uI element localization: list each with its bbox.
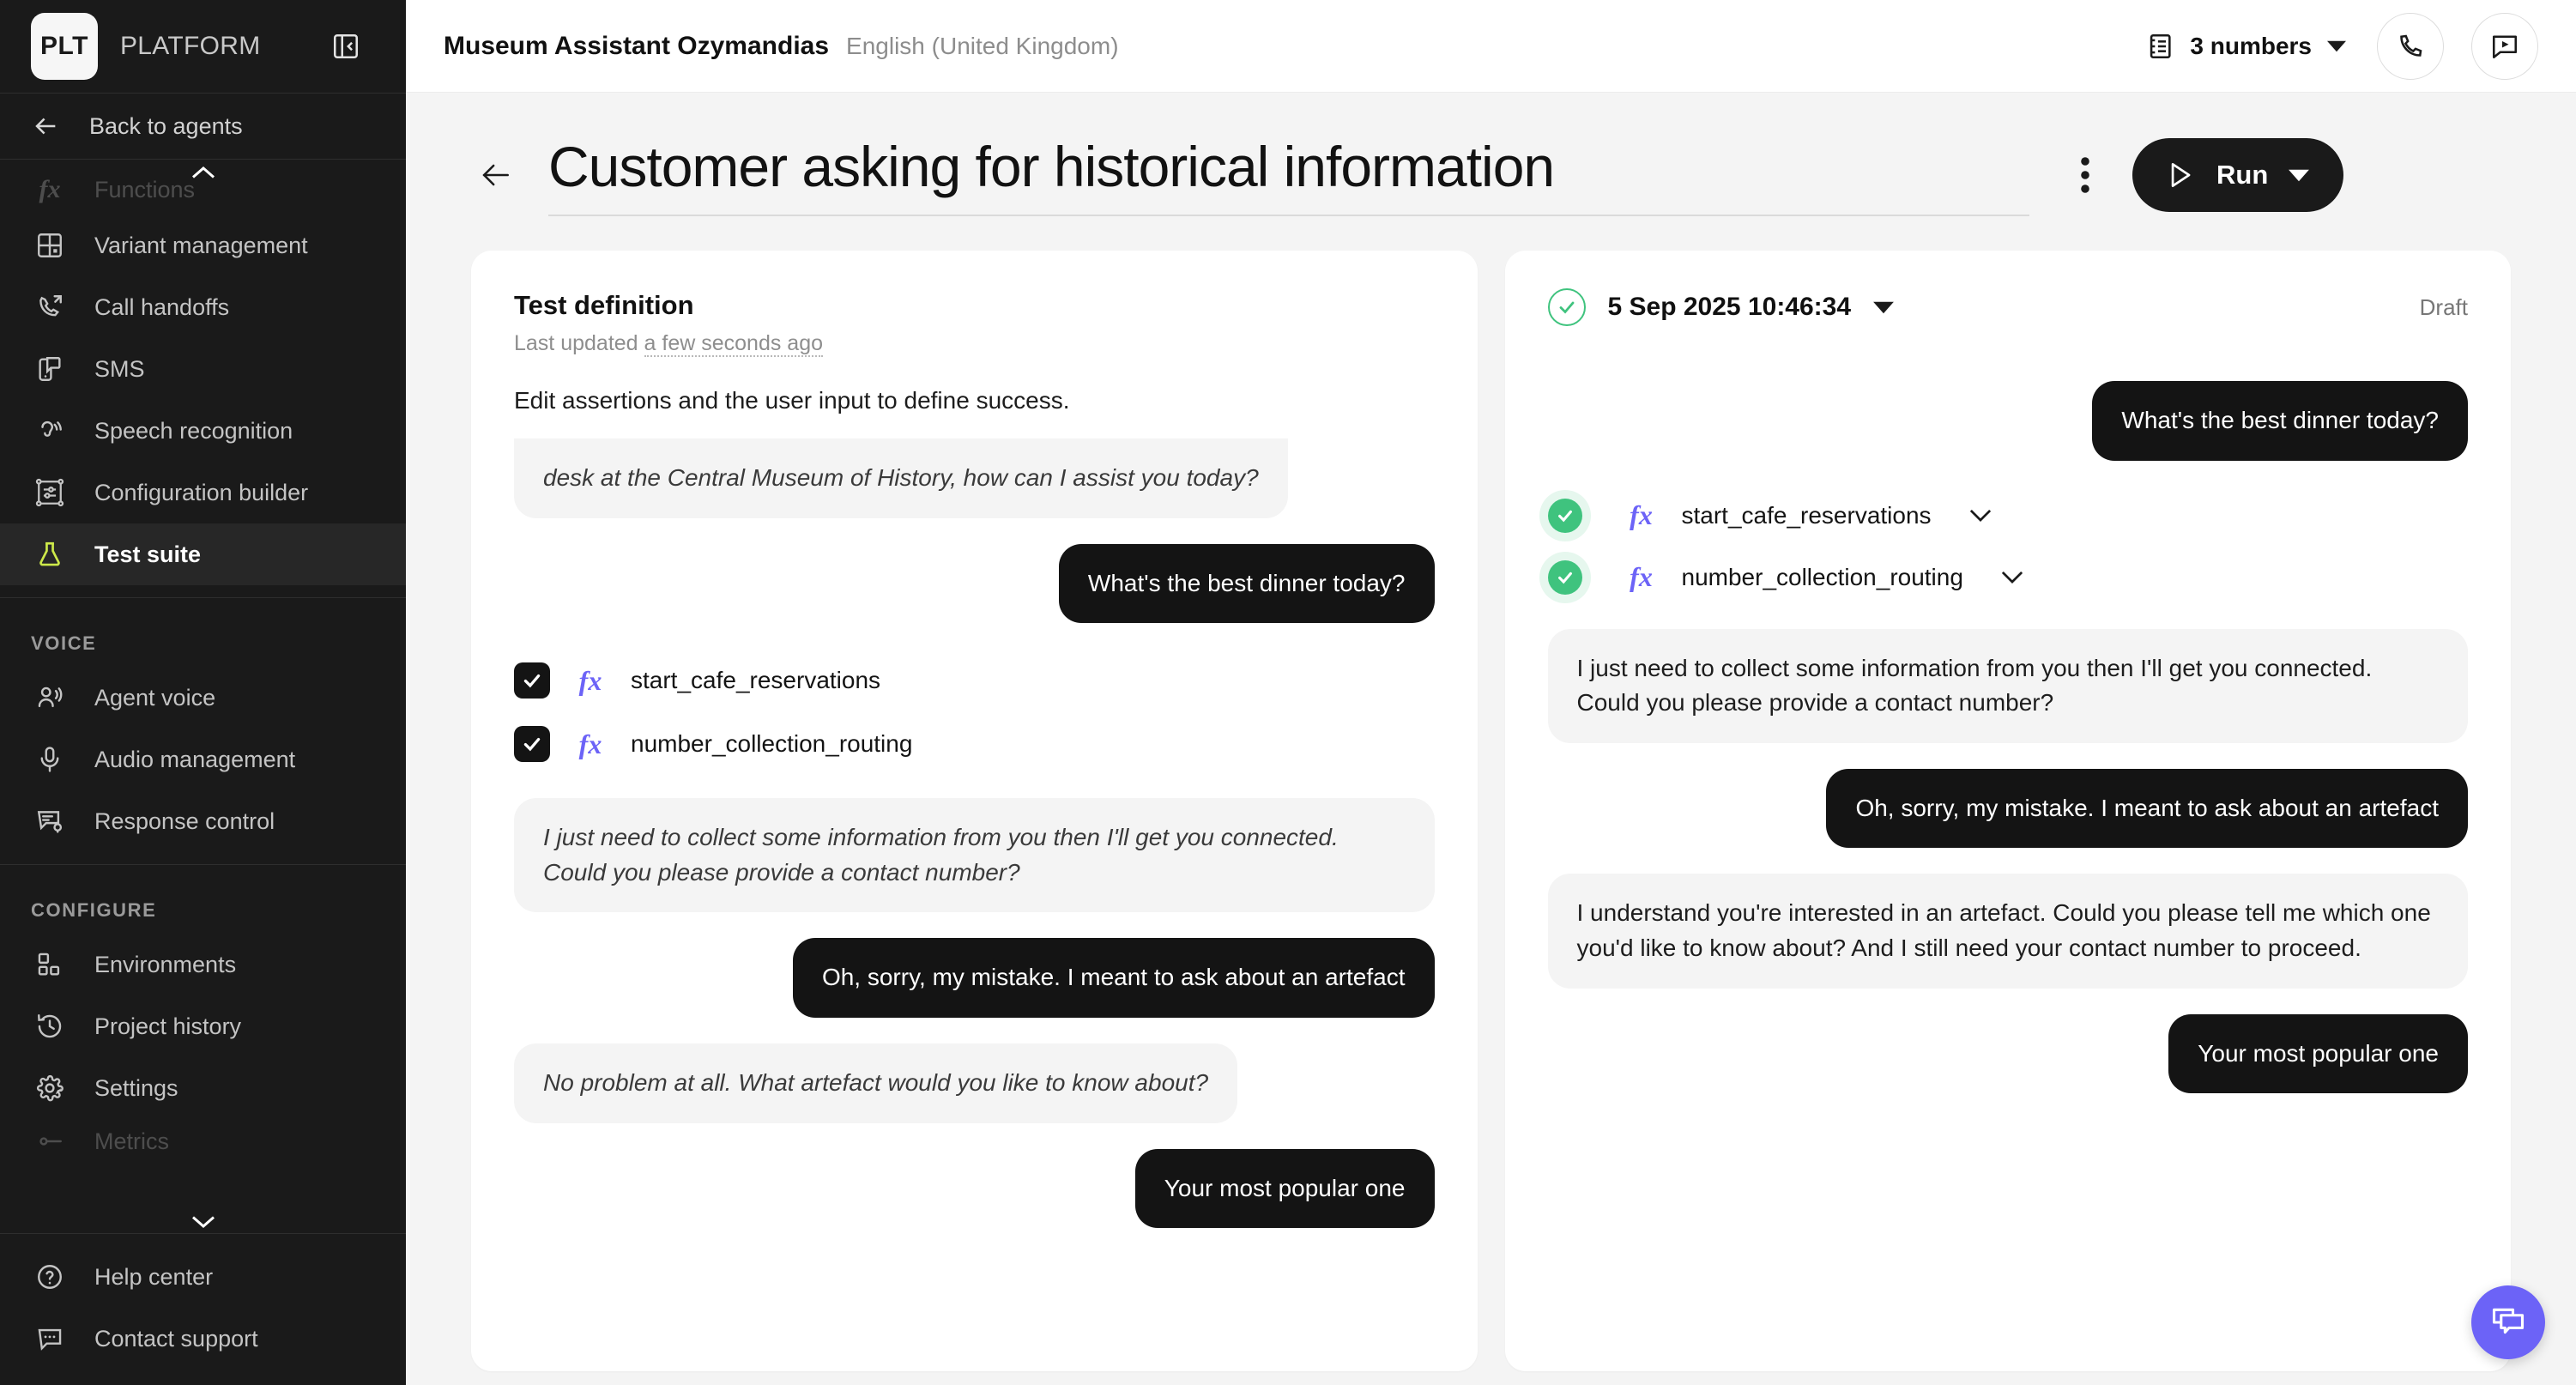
sidebar-footer: Help center Contact support [0, 1233, 406, 1385]
chevron-down-icon [188, 1211, 219, 1231]
run-result-body: What's the best dinner today? f [1505, 342, 2512, 1093]
arrow-left-icon [31, 112, 60, 141]
page-actions: Run [2064, 138, 2343, 212]
phone-icon [2395, 31, 2426, 62]
sidebar-item-sms[interactable]: SMS [0, 338, 406, 400]
panels: Test definition Last updated a few secon… [406, 216, 2576, 1371]
numbers-list-icon [2145, 32, 2174, 61]
sidebar-item-response-control[interactable]: Response control [0, 790, 406, 852]
app-root: PLT PLATFORM Back to agents [0, 0, 2576, 1385]
user-message-bubble[interactable]: What's the best dinner today? [1059, 544, 1435, 624]
clock-history-icon [31, 1012, 69, 1041]
run-button[interactable]: Run [2132, 138, 2343, 212]
content-area: Customer asking for historical informati… [406, 93, 2576, 1385]
chat-dots-icon [31, 1324, 69, 1353]
grid-icon [31, 231, 69, 260]
numbers-label: 3 numbers [2190, 33, 2312, 60]
topbar: Museum Assistant Ozymandias English (Uni… [406, 0, 2576, 93]
sidebar-item-variant-management[interactable]: Variant management [0, 215, 406, 276]
function-name: start_cafe_reservations [1682, 502, 1932, 529]
chevron-down-icon [2327, 39, 2346, 53]
agent-message-bubble[interactable]: I just need to collect some information … [514, 798, 1435, 912]
fx-icon: fx [572, 665, 608, 697]
run-status-check-icon [1548, 288, 1586, 326]
assertion-row[interactable]: fx start_cafe_reservations [514, 656, 1435, 705]
assertion-row[interactable]: fx number_collection_routing [514, 719, 1435, 769]
sidebar-item-configuration-builder[interactable]: Configuration builder [0, 462, 406, 523]
chevron-down-icon [1873, 300, 1894, 315]
test-definition-card: Test definition Last updated a few secon… [471, 251, 1478, 1371]
sidebar-item-label: Speech recognition [94, 418, 293, 445]
sidebar-item-agent-voice[interactable]: Agent voice [0, 667, 406, 729]
chat-row: I understand you're interested in an art… [1548, 874, 2469, 988]
kebab-menu-icon [2080, 156, 2090, 194]
sidebar: PLT PLATFORM Back to agents [0, 0, 406, 1385]
agent-message-bubble: I understand you're interested in an art… [1548, 874, 2469, 988]
back-to-agents-label: Back to agents [89, 113, 243, 140]
brand-name: PLATFORM [120, 32, 261, 61]
sidebar-section-voice: VOICE [0, 598, 406, 667]
sidebar-item-environments[interactable]: Environments [0, 934, 406, 995]
user-message-bubble: Your most popular one [2168, 1014, 2468, 1094]
function-passed-icon [1548, 560, 1582, 595]
sidebar-item-audio-management[interactable]: Audio management [0, 729, 406, 790]
ear-icon [31, 416, 69, 445]
agent-message-bubble[interactable]: desk at the Central Museum of History, h… [514, 438, 1288, 518]
sidebar-item-speech-recognition[interactable]: Speech recognition [0, 400, 406, 462]
numbers-dropdown[interactable]: 3 numbers [2142, 25, 2349, 68]
chevron-down-icon [2289, 168, 2309, 183]
user-message-bubble[interactable]: Your most popular one [1135, 1149, 1435, 1229]
sidebar-item-metrics[interactable]: Metrics [0, 1119, 406, 1164]
main-area: Museum Assistant Ozymandias English (Uni… [406, 0, 2576, 1385]
person-speaking-icon [31, 683, 69, 712]
fx-icon: fx [1624, 561, 1660, 593]
updated-prefix: Last updated [514, 331, 638, 355]
run-status-badge: Draft [2420, 294, 2468, 321]
question-circle-icon [31, 1262, 69, 1291]
chat-row: I just need to collect some information … [1548, 629, 2469, 743]
back-button[interactable] [471, 151, 519, 199]
chat-settings-icon [31, 807, 69, 836]
sidebar-item-label: Agent voice [94, 685, 215, 711]
brand-logo: PLT [31, 13, 98, 80]
sidebar-item-help-center[interactable]: Help center [0, 1246, 406, 1308]
chat-row [1548, 333, 2469, 355]
chevron-down-icon [2001, 570, 2023, 584]
agent-language: English (United Kingdom) [846, 33, 1119, 60]
fx-icon: fx [572, 729, 608, 760]
assertion-checkbox[interactable] [514, 662, 550, 699]
run-result-header: 5 Sep 2025 10:46:34 Draft [1505, 251, 2512, 326]
test-definition-description: Edit assertions and the user input to de… [514, 387, 1435, 414]
chat-row: Your most popular one [1548, 1014, 2469, 1094]
test-definition-body: Test definition Last updated a few secon… [471, 251, 1478, 1371]
expand-function-chevron[interactable] [2001, 570, 2023, 584]
user-message-bubble[interactable]: Oh, sorry, my mistake. I meant to ask ab… [793, 938, 1435, 1018]
sidebar-item-label: Help center [94, 1264, 213, 1291]
sliders-icon [31, 478, 69, 507]
chat-row: What's the best dinner today? [1548, 381, 2469, 461]
sidebar-item-label: Test suite [94, 541, 201, 568]
run-functions-list: fx start_cafe_reservations [1548, 492, 2469, 602]
check-icon [521, 733, 543, 755]
run-label: Run [2216, 160, 2268, 191]
page-title[interactable]: Customer asking for historical informati… [548, 134, 2029, 216]
sidebar-scroll-area[interactable]: fx Functions Variant management [0, 160, 406, 1233]
assertion-name: number_collection_routing [631, 730, 912, 758]
sidebar-item-label: Metrics [94, 1128, 169, 1155]
expand-function-chevron[interactable] [1969, 508, 1992, 523]
scroll-up-chevron[interactable] [0, 163, 406, 184]
more-options-button[interactable] [2064, 151, 2107, 199]
sidebar-item-call-handoffs[interactable]: Call handoffs [0, 276, 406, 338]
play-icon [2163, 159, 2196, 191]
test-chat-button[interactable] [2471, 13, 2538, 80]
chat-row: Your most popular one [514, 1149, 1435, 1229]
chat-row: Oh, sorry, my mistake. I meant to ask ab… [514, 938, 1435, 1018]
run-result-card: 5 Sep 2025 10:46:34 Draft [1505, 251, 2512, 1371]
message-play-icon [2489, 31, 2520, 62]
page-header: Customer asking for historical informati… [406, 93, 2576, 216]
user-message-bubble: What's the best dinner today? [2092, 381, 2468, 461]
phone-forward-icon [31, 293, 69, 322]
updated-value: a few seconds ago [644, 331, 823, 357]
call-agent-button[interactable] [2377, 13, 2444, 80]
brand-header: PLT PLATFORM [0, 0, 406, 93]
chat-row: desk at the Central Museum of History, h… [514, 438, 1435, 518]
sidebar-item-label: Call handoffs [94, 294, 229, 321]
sidebar-item-label: Audio management [94, 747, 295, 773]
function-passed-icon [1548, 499, 1582, 533]
sidebar-item-label: Contact support [94, 1326, 258, 1352]
chevron-up-icon [188, 163, 219, 184]
agent-message-bubble: I just need to collect some information … [1548, 629, 2469, 743]
check-icon [521, 669, 543, 692]
run-result-chat: What's the best dinner today? f [1548, 342, 2469, 1093]
support-chat-widget-button[interactable] [2471, 1285, 2545, 1359]
test-definition-chat: desk at the Central Museum of History, h… [514, 438, 1435, 1228]
chevron-down-icon [1969, 508, 1992, 523]
sidebar-item-project-history[interactable]: Project history [0, 995, 406, 1057]
user-message-bubble: Oh, sorry, my mistake. I meant to ask ab… [1826, 769, 2468, 849]
blocks-icon [31, 950, 69, 979]
topbar-actions: 3 numbers [2142, 13, 2538, 80]
chat-row: What's the best dinner today? [514, 544, 1435, 624]
assertion-checkbox[interactable] [514, 726, 550, 762]
sidebar-item-label: Project history [94, 1013, 241, 1040]
run-timestamp: 5 Sep 2025 10:46:34 [1608, 293, 1852, 322]
sidebar-item-label: Environments [94, 952, 236, 978]
run-function-row[interactable]: fx start_cafe_reservations [1548, 492, 2469, 540]
sidebar-item-label: SMS [94, 356, 145, 383]
title-field-wrapper: Customer asking for historical informati… [548, 134, 2029, 216]
chat-row: No problem at all. What artefact would y… [514, 1043, 1435, 1123]
gear-icon [31, 1074, 69, 1103]
sidebar-item-label: Configuration builder [94, 480, 308, 506]
test-definition-title: Test definition [514, 290, 1435, 321]
test-definition-updated: Last updated a few seconds ago [514, 331, 1435, 356]
assertions-list: fx start_cafe_reservations fx number_col… [514, 656, 1435, 769]
chat-widget-icon [2489, 1303, 2527, 1341]
flask-icon [31, 540, 69, 569]
panel-collapse-icon [331, 32, 360, 61]
chat-row: I just need to collect some information … [514, 798, 1435, 912]
agent-message-bubble[interactable]: No problem at all. What artefact would y… [514, 1043, 1237, 1123]
sms-icon [31, 354, 69, 384]
microphone-icon [31, 745, 69, 774]
sidebar-item-settings[interactable]: Settings [0, 1057, 406, 1119]
toggle-icon [31, 1127, 69, 1156]
fx-icon: fx [1624, 499, 1660, 531]
agent-name: Museum Assistant Ozymandias [444, 32, 829, 61]
sidebar-item-label: Settings [94, 1075, 178, 1102]
sidebar-section-configure: CONFIGURE [0, 865, 406, 934]
collapse-sidebar-button[interactable] [329, 29, 363, 64]
sidebar-item-test-suite[interactable]: Test suite [0, 523, 406, 585]
arrow-left-icon [476, 156, 514, 194]
assertion-name: start_cafe_reservations [631, 667, 880, 694]
sidebar-item-label: Response control [94, 808, 275, 835]
chat-row: Oh, sorry, my mistake. I meant to ask ab… [1548, 769, 2469, 849]
scroll-down-chevron[interactable] [0, 1211, 406, 1231]
run-function-row[interactable]: fx number_collection_routing [1548, 553, 2469, 602]
back-to-agents-button[interactable]: Back to agents [0, 93, 406, 160]
sidebar-item-contact-support[interactable]: Contact support [0, 1308, 406, 1370]
sidebar-item-label: Variant management [94, 233, 308, 259]
function-name: number_collection_routing [1682, 564, 1963, 591]
run-select-dropdown[interactable] [1873, 300, 1894, 315]
